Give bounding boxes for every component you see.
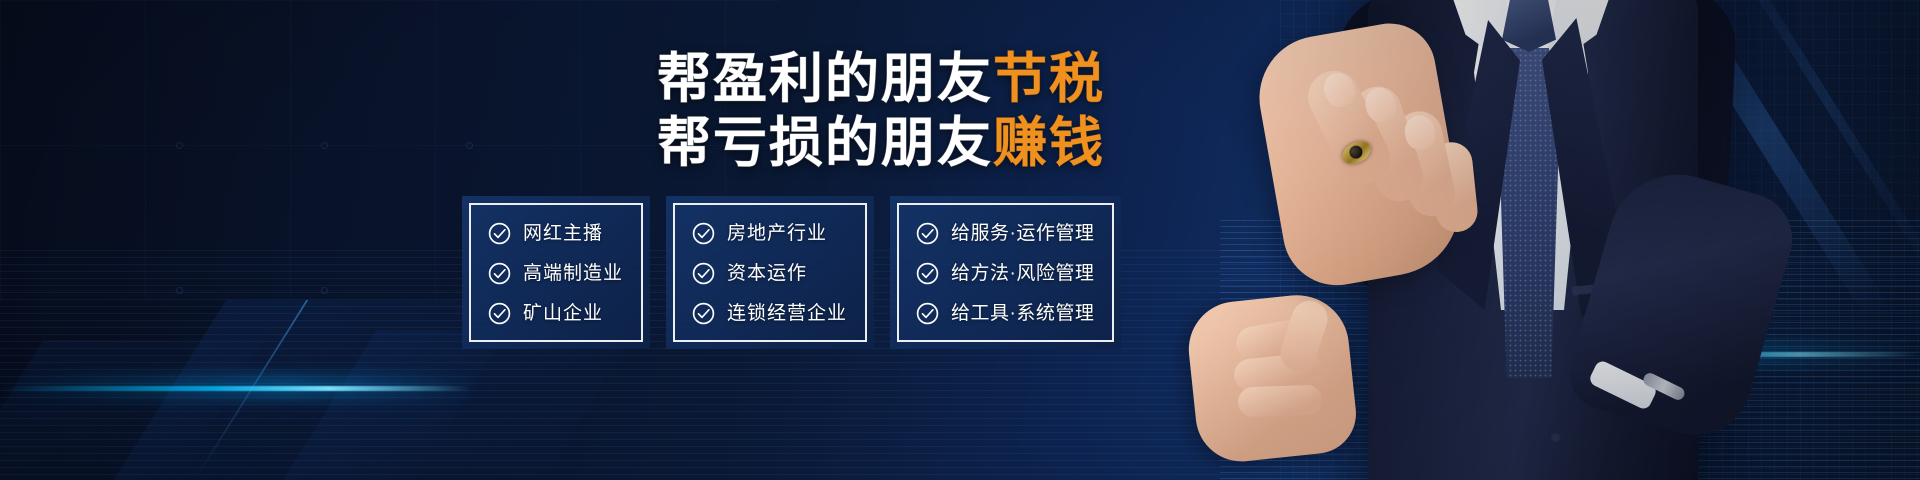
suit-button bbox=[1550, 432, 1561, 443]
headline-line-2: 帮亏损的朋友赚钱 bbox=[0, 112, 1105, 176]
feature-item[interactable]: 房地产行业 bbox=[691, 221, 847, 246]
feature-item-label: 连锁经营企业 bbox=[727, 304, 847, 323]
feature-item-label: 给服务·运作管理 bbox=[951, 224, 1094, 243]
check-circle-icon bbox=[487, 301, 512, 326]
check-circle-icon bbox=[915, 261, 940, 286]
check-circle-icon bbox=[487, 221, 512, 246]
headline-line-1-orange: 节税 bbox=[993, 49, 1105, 109]
headline-line-2-orange: 赚钱 bbox=[993, 113, 1105, 173]
feature-item-label: 给工具·系统管理 bbox=[951, 304, 1094, 323]
headline-block: 帮盈利的朋友节税 帮亏损的朋友赚钱 bbox=[0, 48, 1210, 175]
feature-box-industries-2[interactable]: 房地产行业 资本运作 连锁经营企业 bbox=[666, 196, 874, 349]
feature-item-label: 资本运作 bbox=[727, 264, 807, 283]
headline-line-1: 帮盈利的朋友节税 bbox=[0, 48, 1105, 112]
feature-item-label: 矿山企业 bbox=[523, 304, 603, 323]
cyan-light-streak bbox=[0, 386, 470, 391]
feature-item-label: 网红主播 bbox=[523, 224, 603, 243]
headline-line-2-white: 帮亏损的朋友 bbox=[657, 113, 993, 173]
check-circle-icon bbox=[915, 301, 940, 326]
feature-item[interactable]: 连锁经营企业 bbox=[691, 301, 847, 326]
check-circle-icon bbox=[915, 221, 940, 246]
feature-box-industries-1[interactable]: 网红主播 高端制造业 矿山企业 bbox=[462, 196, 650, 349]
check-circle-icon bbox=[691, 261, 716, 286]
feature-item-label: 房地产行业 bbox=[727, 224, 827, 243]
feature-item-label: 给方法·风险管理 bbox=[951, 264, 1094, 283]
feature-item[interactable]: 高端制造业 bbox=[487, 261, 623, 286]
feature-item[interactable]: 给服务·运作管理 bbox=[915, 221, 1094, 246]
feature-boxes: 网红主播 高端制造业 矿山企业 bbox=[462, 196, 1121, 349]
feature-item[interactable]: 网红主播 bbox=[487, 221, 623, 246]
feature-item[interactable]: 给工具·系统管理 bbox=[915, 301, 1094, 326]
businessman-photo bbox=[1250, 0, 1770, 480]
feature-item[interactable]: 矿山企业 bbox=[487, 301, 623, 326]
promotional-banner: 帮盈利的朋友节税 帮亏损的朋友赚钱 网红主播 bbox=[0, 0, 1920, 480]
feature-item[interactable]: 给方法·风险管理 bbox=[915, 261, 1094, 286]
finger bbox=[1238, 385, 1323, 418]
feature-item[interactable]: 资本运作 bbox=[691, 261, 847, 286]
check-circle-icon bbox=[691, 221, 716, 246]
feature-item-label: 高端制造业 bbox=[523, 264, 623, 283]
check-circle-icon bbox=[487, 261, 512, 286]
headline-line-1-white: 帮盈利的朋友 bbox=[657, 49, 993, 109]
check-circle-icon bbox=[691, 301, 716, 326]
feature-box-services[interactable]: 给服务·运作管理 给方法·风险管理 bbox=[890, 196, 1121, 349]
